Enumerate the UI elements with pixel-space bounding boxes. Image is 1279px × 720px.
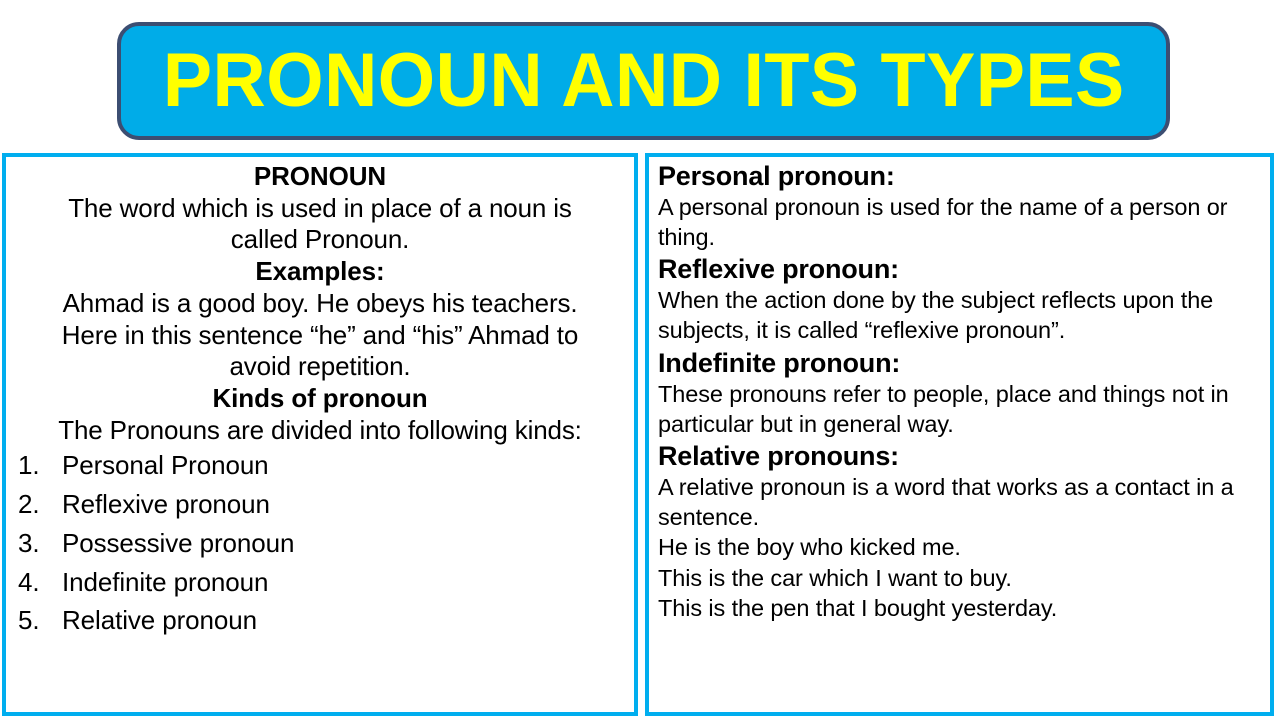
reflexive-pronoun-body: When the action done by the subject refl… xyxy=(658,285,1262,345)
indefinite-pronoun-section: Indefinite pronoun: These pronouns refer… xyxy=(658,347,1262,439)
pronoun-heading: PRONOUN xyxy=(14,161,626,193)
list-item: 3. Possessive pronoun xyxy=(14,524,626,563)
kinds-intro-text: The Pronouns are divided into following … xyxy=(14,415,626,447)
list-item: 4. Indefinite pronoun xyxy=(14,563,626,602)
relative-pronoun-section: Relative pronouns: A relative pronoun is… xyxy=(658,440,1262,624)
relative-pronoun-heading: Relative pronouns: xyxy=(658,440,1262,472)
list-item-number: 3. xyxy=(18,524,62,563)
reflexive-pronoun-section: Reflexive pronoun: When the action done … xyxy=(658,253,1262,345)
list-item-number: 1. xyxy=(18,446,62,485)
examples-heading: Examples: xyxy=(14,256,626,288)
list-item: 2. Reflexive pronoun xyxy=(14,485,626,524)
list-item: 1. Personal Pronoun xyxy=(14,446,626,485)
example-line-1: Ahmad is a good boy. He obeys his teache… xyxy=(14,288,626,320)
kinds-of-pronoun-heading: Kinds of pronoun xyxy=(14,383,626,415)
page-title: PRONOUN AND ITS TYPES xyxy=(163,43,1125,119)
reflexive-pronoun-heading: Reflexive pronoun: xyxy=(658,253,1262,285)
indefinite-pronoun-heading: Indefinite pronoun: xyxy=(658,347,1262,379)
right-panel: Personal pronoun: A personal pronoun is … xyxy=(645,153,1274,716)
list-item-label: Relative pronoun xyxy=(62,601,626,640)
indefinite-pronoun-body: These pronouns refer to people, place an… xyxy=(658,379,1262,439)
slide-page: PRONOUN AND ITS TYPES PRONOUN The word w… xyxy=(0,0,1279,720)
title-banner: PRONOUN AND ITS TYPES xyxy=(117,22,1170,140)
list-item-label: Reflexive pronoun xyxy=(62,485,626,524)
relative-example-1: He is the boy who kicked me. xyxy=(658,532,1262,563)
list-item: 5. Relative pronoun xyxy=(14,601,626,640)
personal-pronoun-body: A personal pronoun is used for the name … xyxy=(658,192,1262,252)
list-item-number: 4. xyxy=(18,563,62,602)
kinds-list: 1. Personal Pronoun 2. Reflexive pronoun… xyxy=(14,446,626,640)
list-item-number: 5. xyxy=(18,601,62,640)
pronoun-definition-line-2: called Pronoun. xyxy=(14,224,626,256)
list-item-number: 2. xyxy=(18,485,62,524)
example-line-2: Here in this sentence “he” and “his” Ahm… xyxy=(14,320,626,352)
relative-example-3: This is the pen that I bought yesterday. xyxy=(658,593,1262,624)
relative-example-2: This is the car which I want to buy. xyxy=(658,563,1262,594)
pronoun-definition-line-1: The word which is used in place of a nou… xyxy=(14,193,626,225)
personal-pronoun-heading: Personal pronoun: xyxy=(658,160,1262,192)
list-item-label: Indefinite pronoun xyxy=(62,563,626,602)
list-item-label: Possessive pronoun xyxy=(62,524,626,563)
left-panel: PRONOUN The word which is used in place … xyxy=(2,153,638,716)
relative-pronoun-body: A relative pronoun is a word that works … xyxy=(658,472,1262,532)
personal-pronoun-section: Personal pronoun: A personal pronoun is … xyxy=(658,160,1262,252)
list-item-label: Personal Pronoun xyxy=(62,446,626,485)
example-line-3: avoid repetition. xyxy=(14,351,626,383)
